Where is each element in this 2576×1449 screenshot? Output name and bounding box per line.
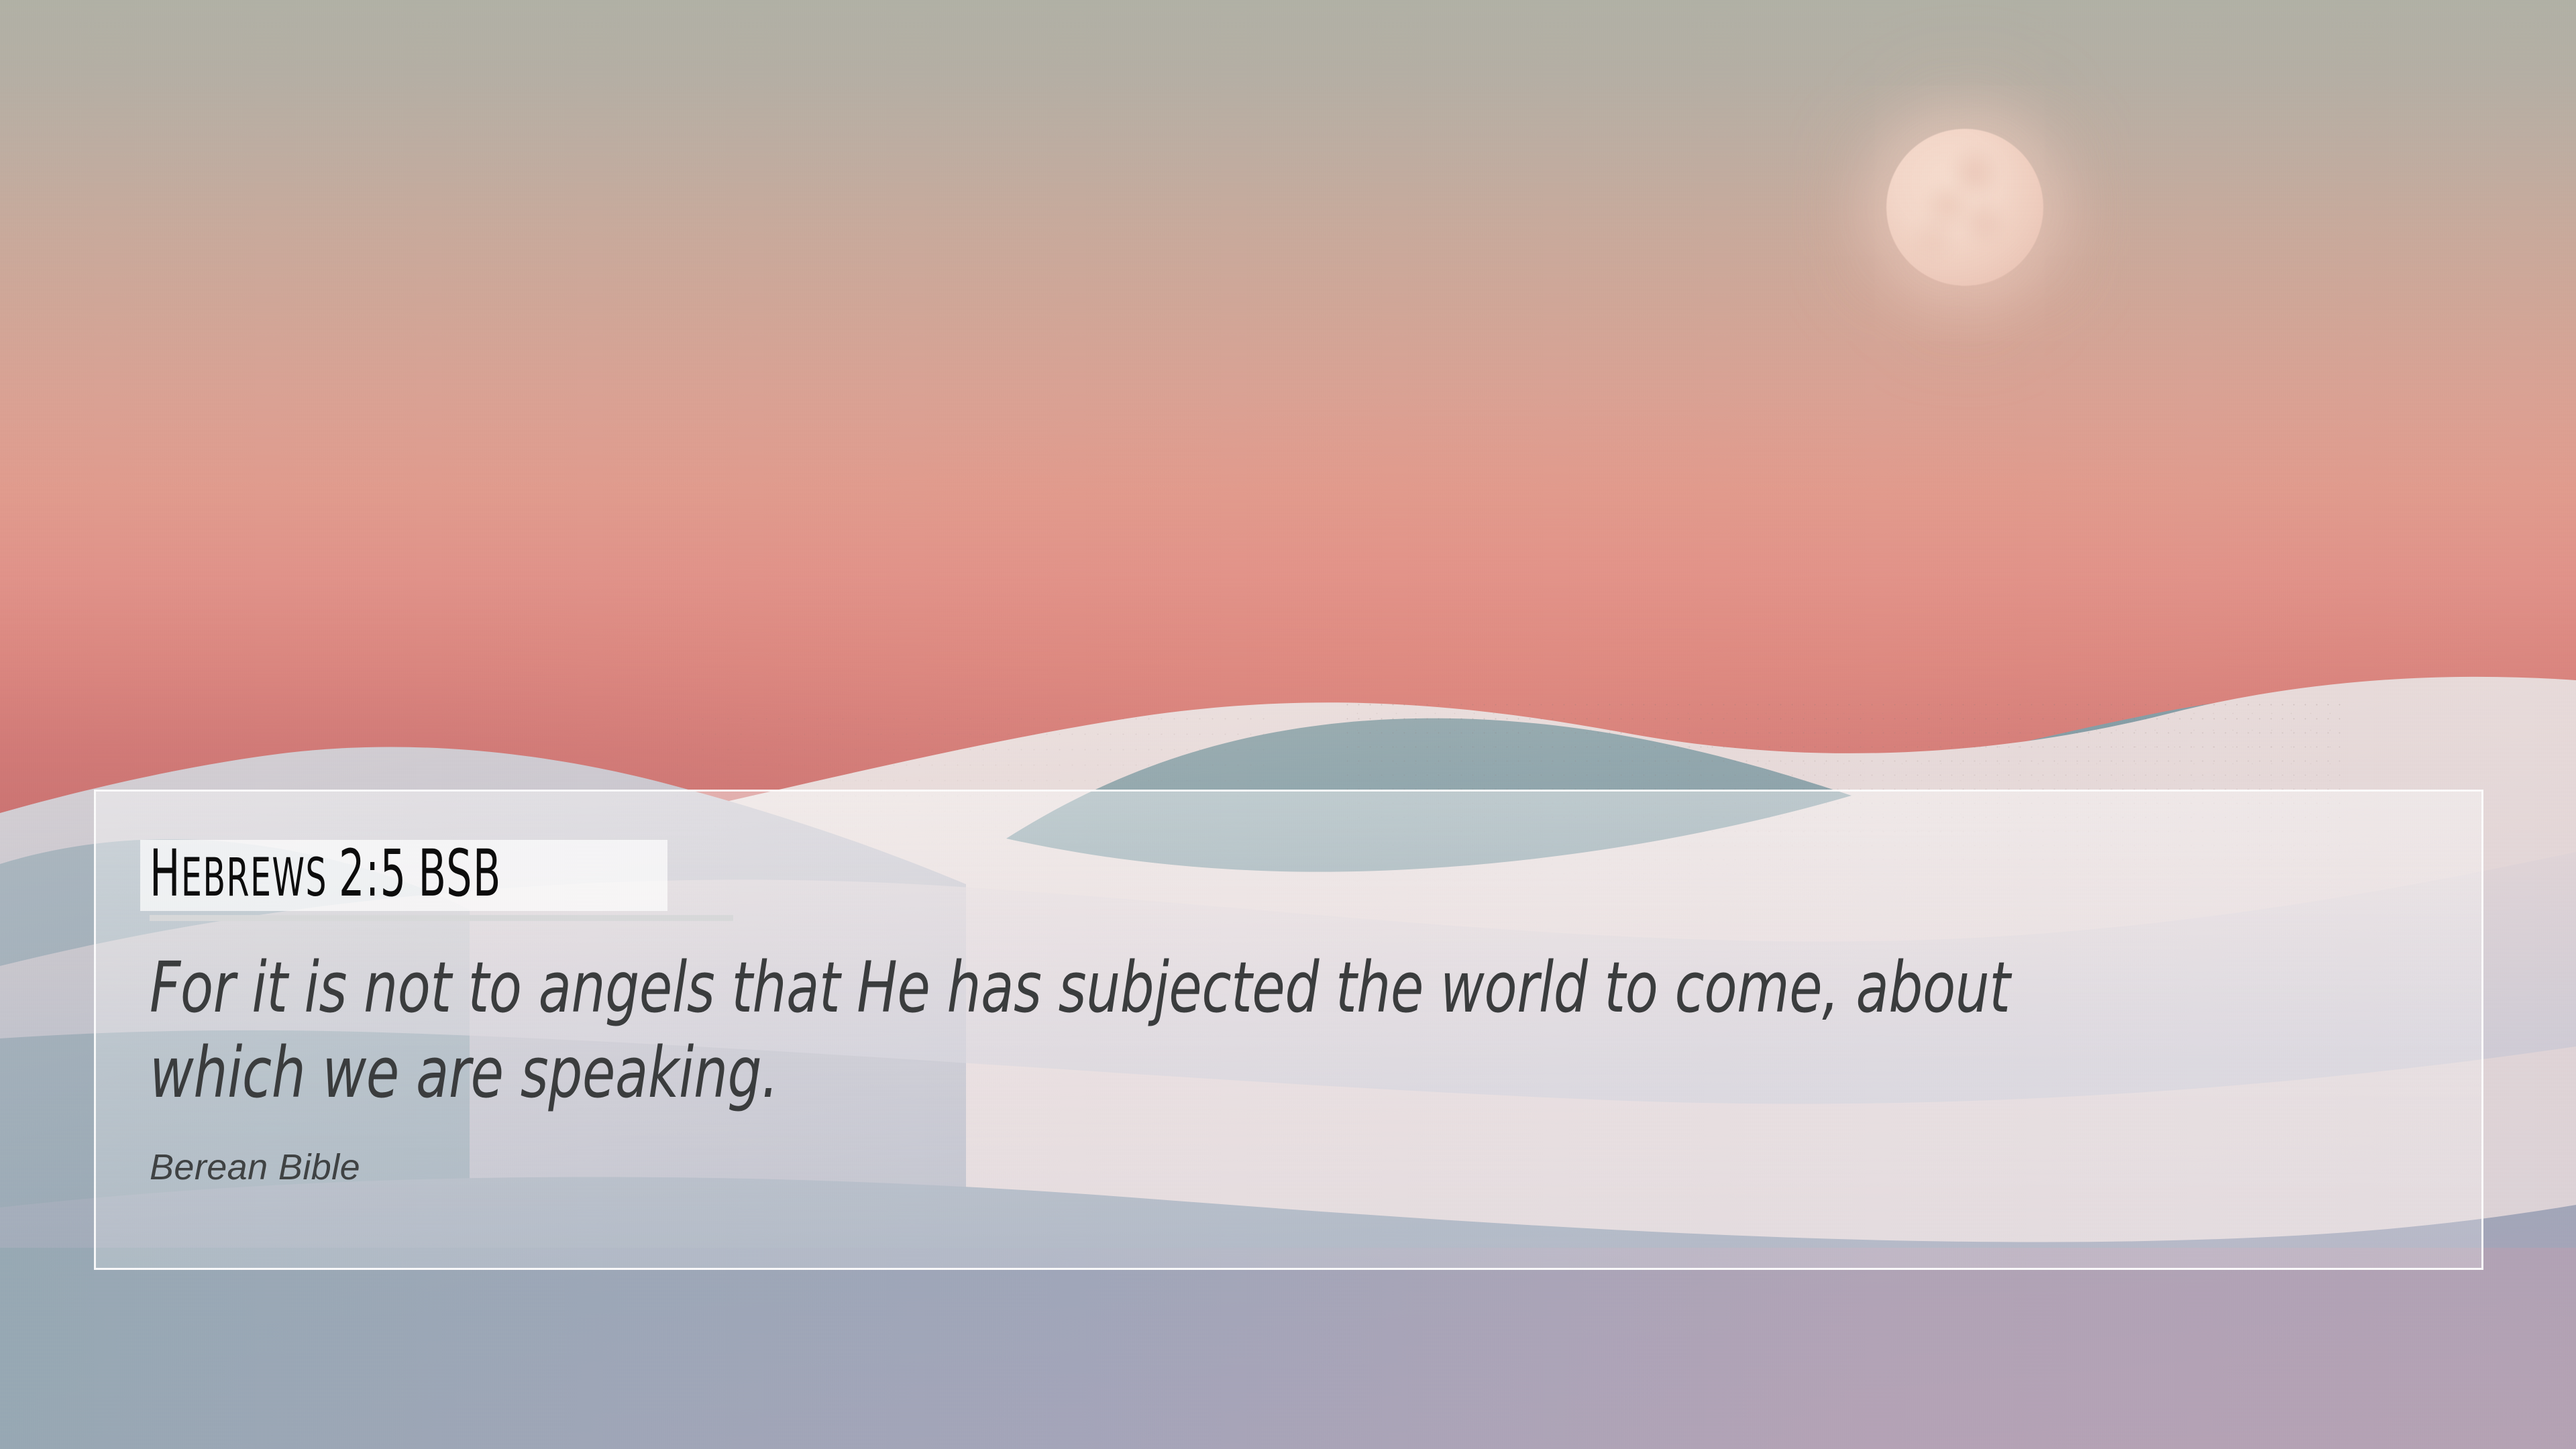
verse-reference-underline [150,915,733,921]
quote-card-inner: HEBREWS 2:5 BSB For it is not to angels … [96,792,2481,1268]
verse-text: For it is not to angels that He has subj… [150,945,2155,1116]
verse-attribution: Berean Bible [150,1146,2481,1188]
verse-reference: HEBREWS 2:5 BSB [150,843,502,904]
wallpaper-scene: HEBREWS 2:5 BSB For it is not to angels … [0,0,2576,1449]
verse-reference-block: HEBREWS 2:5 BSB [140,840,667,911]
verse-quote-card: HEBREWS 2:5 BSB For it is not to angels … [94,790,2483,1270]
